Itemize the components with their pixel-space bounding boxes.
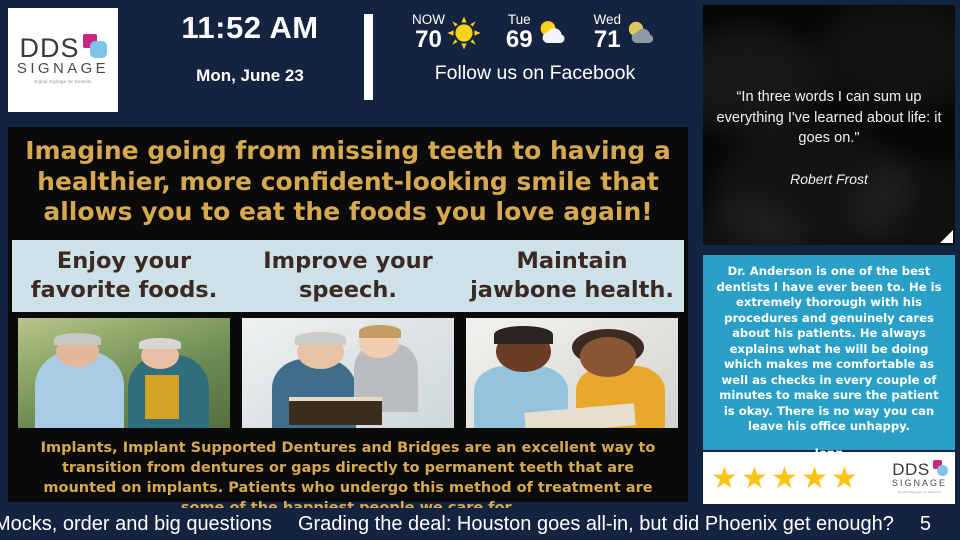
ticker-item: Mocks, order and big questions — [0, 513, 272, 536]
header-divider — [364, 14, 373, 100]
logo-shapes-icon — [81, 34, 107, 60]
star-rating: ★ ★ ★ ★ ★ — [711, 464, 860, 493]
photo-row — [8, 312, 688, 428]
weather-wed-day: Wed — [593, 13, 621, 27]
star-icon: ★ — [801, 464, 830, 493]
testimonial-text: Dr. Anderson is one of the best dentists… — [712, 264, 946, 435]
logo-tagline: Digital Signage for Dentists — [34, 79, 92, 84]
weather-tue-day: Tue — [506, 13, 533, 27]
quote-panel: “In three words I can sum up everything … — [703, 5, 955, 245]
weather-widget: NOW 70 — [412, 8, 657, 58]
benefit-item-1: Enjoy your favorite foods. — [12, 247, 236, 305]
weather-item-tue: Tue 69 — [506, 13, 569, 52]
page-title: Imagine going from missing teeth to havi… — [8, 127, 688, 234]
sun-cloud-icon — [535, 16, 569, 50]
logo-secondary-text: SIGNAGE — [892, 478, 947, 488]
star-icon: ★ — [741, 464, 770, 493]
weather-wed-temp: 71 — [593, 27, 621, 52]
clock-date: Mon, June 23 — [150, 66, 350, 86]
testimonial-panel: Dr. Anderson is one of the best dentists… — [703, 255, 955, 450]
weather-wed-text: Wed 71 — [593, 13, 621, 52]
benefits-row: Enjoy your favorite foods. Improve your … — [12, 240, 684, 312]
weather-now-temp: 70 — [412, 27, 445, 52]
senior-couple-eating-outdoors-photo — [18, 318, 230, 428]
grandfather-and-boy-reading-photo — [242, 318, 454, 428]
quote-author: Robert Frost — [703, 171, 955, 187]
sun-cloud-dim-icon — [623, 16, 657, 50]
news-ticker-track: Mocks, order and big questions Grading t… — [0, 508, 931, 540]
weather-now-text: NOW 70 — [412, 13, 445, 52]
main-content-panel: Imagine going from missing teeth to havi… — [5, 124, 691, 505]
logo-primary-text: DDS — [19, 36, 79, 62]
star-icon: ★ — [711, 464, 740, 493]
star-icon: ★ — [831, 464, 860, 493]
clock-time: 11:52 AM — [150, 10, 350, 46]
man-and-girl-reading-photo — [466, 318, 678, 428]
rating-bar: ★ ★ ★ ★ ★ DDS SIGNAGE Digital Signage fo… — [703, 452, 955, 504]
weather-item-wed: Wed 71 — [593, 13, 657, 52]
weather-item-now: NOW 70 — [412, 13, 481, 52]
benefit-item-2: Improve your speech. — [236, 247, 460, 305]
logo-tagline: Digital Signage for Dentists — [898, 490, 941, 494]
logo-primary-text: DDS — [892, 462, 929, 478]
sun-icon — [447, 16, 481, 50]
page-curl-icon — [940, 230, 953, 243]
weather-now-day: NOW — [412, 13, 445, 27]
logo-blue-square-icon — [90, 41, 107, 58]
treatment-description: Implants, Implant Supported Dentures and… — [8, 428, 688, 518]
social-follow-text: Follow us on Facebook — [400, 62, 670, 85]
quote-text: “In three words I can sum up everything … — [703, 87, 955, 149]
logo-wordmark-row-small: DDS — [892, 462, 946, 478]
news-ticker: Mocks, order and big questions Grading t… — [0, 508, 960, 540]
logo-shapes-icon — [931, 460, 947, 476]
brand-logo-small: DDS SIGNAGE Digital Signage for Dentists — [892, 462, 947, 493]
ticker-item: 5 — [920, 513, 931, 536]
weather-tue-text: Tue 69 — [506, 13, 533, 52]
star-icon: ★ — [771, 464, 800, 493]
benefit-item-3: Maintain jawbone health. — [460, 247, 684, 305]
brand-logo: DDS SIGNAGE Digital Signage for Dentists — [8, 8, 118, 112]
logo-blue-square-icon — [937, 465, 948, 476]
clock: 11:52 AM Mon, June 23 — [150, 10, 350, 86]
logo-secondary-text: SIGNAGE — [17, 60, 109, 77]
logo-wordmark-row: DDS — [19, 36, 106, 62]
weather-tue-temp: 69 — [506, 27, 533, 52]
ticker-item: Grading the deal: Houston goes all-in, b… — [298, 513, 894, 536]
